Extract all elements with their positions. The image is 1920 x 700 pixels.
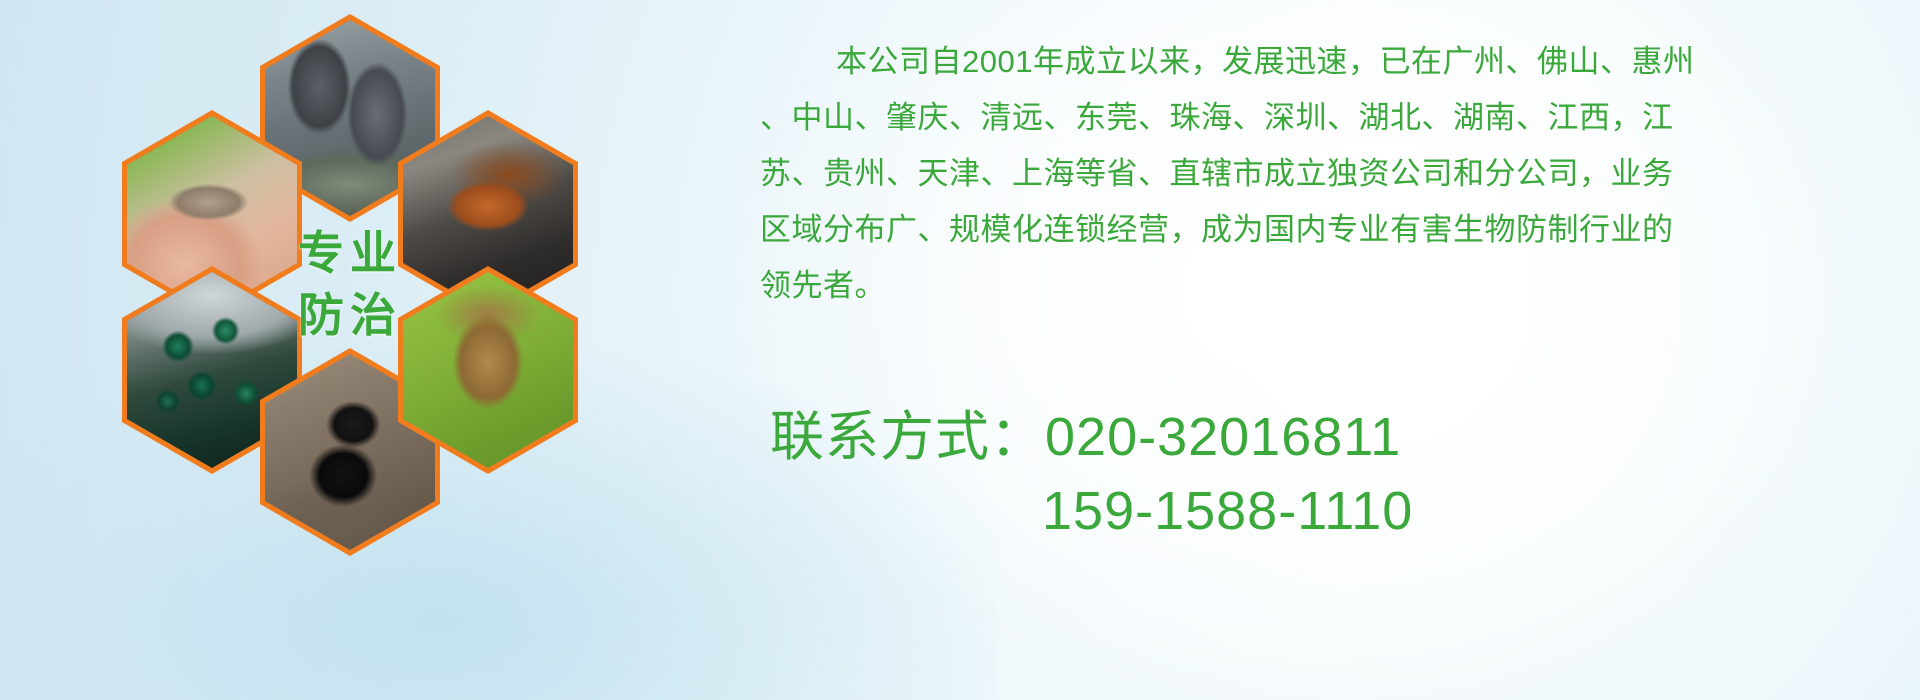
badge-line-2: 防治 — [298, 284, 402, 346]
description-line-3: 苏、贵州、天津、上海等省、直辖市成立独资公司和分公司，业务 — [760, 146, 1880, 202]
company-description: 本公司自2001年成立以来，发展迅速，已在广州、佛山、惠州 、中山、肇庆、清远、… — [760, 34, 1880, 314]
phone-primary[interactable]: 020-32016811 — [1045, 407, 1401, 467]
hex-photo-collage: 专业 防治 — [60, 0, 680, 580]
promo-banner: 专业 防治 本公司自2001年成立以来，发展迅速，已在广州、佛山、惠州 、中山、… — [0, 0, 1920, 700]
phone-secondary[interactable]: 159-1588-1110 — [1042, 481, 1413, 541]
description-line-4: 区域分布广、规模化连锁经营，成为国内专业有害生物防制行业的 — [760, 202, 1880, 258]
description-line-1: 本公司自2001年成立以来，发展迅速，已在广州、佛山、惠州 — [760, 34, 1880, 90]
contact-block: 联系方式：020-32016811 159-1588-1110 — [770, 400, 1413, 548]
description-line-5: 领先者。 — [760, 258, 1880, 314]
specialty-badge: 专业 防治 — [260, 180, 440, 388]
badge-line-1: 专业 — [298, 222, 402, 284]
contact-label: 联系方式： — [770, 407, 1045, 467]
description-line-2: 、中山、肇庆、清远、东莞、珠海、深圳、湖北、湖南、江西，江 — [760, 90, 1880, 146]
contact-primary-line: 联系方式：020-32016811 — [770, 400, 1413, 474]
contact-secondary-line: 159-1588-1110 — [770, 474, 1413, 548]
